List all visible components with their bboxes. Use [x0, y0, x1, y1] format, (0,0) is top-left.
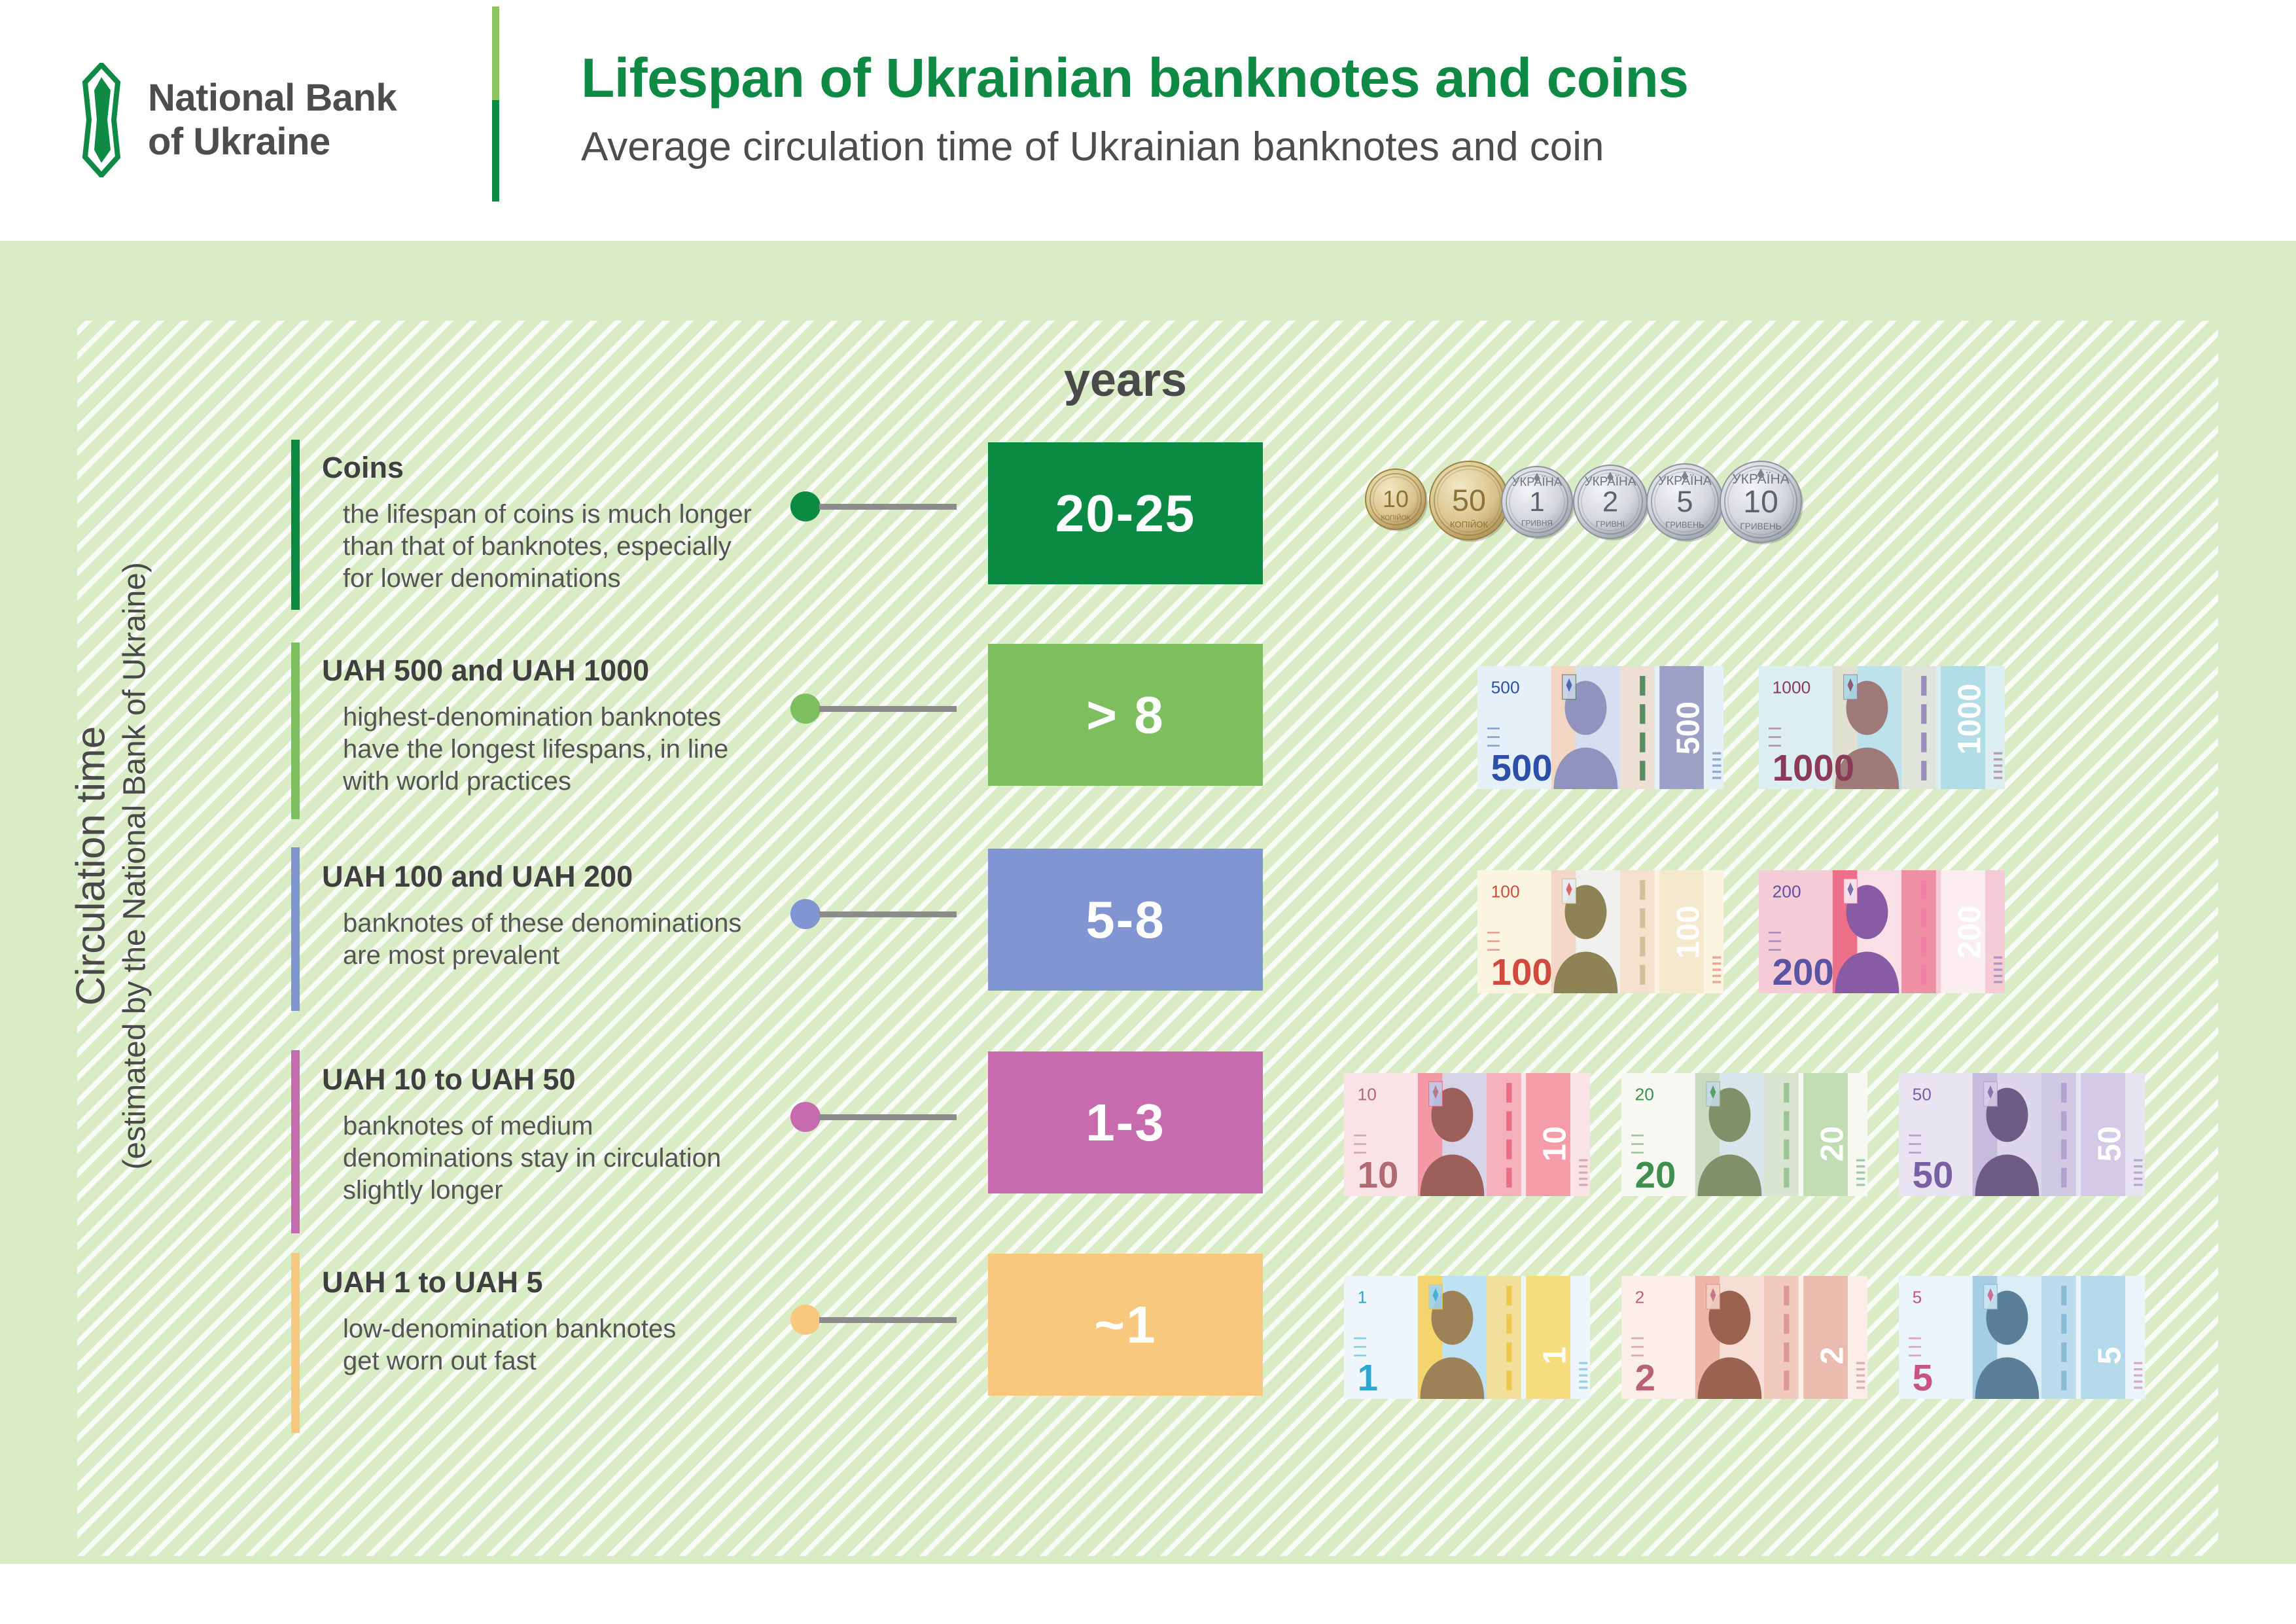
svg-text:20: 20 [1635, 1084, 1654, 1104]
row-description: the lifespan of coins is much longerthan… [343, 499, 780, 594]
svg-text:1000: 1000 [1773, 747, 1854, 788]
header-divider [492, 7, 499, 202]
row-text-block: Coinsthe lifespan of coins is much longe… [322, 451, 780, 595]
row-description-line: have the longest lifespans, in line [343, 733, 780, 766]
svg-text:500: 500 [1491, 747, 1553, 788]
svg-text:5: 5 [1913, 1357, 1933, 1398]
row-accent-bar [291, 1050, 300, 1233]
row-description-line: the lifespan of coins is much longer [343, 499, 780, 531]
row-connector-dot [790, 1305, 821, 1335]
svg-text:100: 100 [1491, 881, 1520, 901]
row-accent-bar [291, 847, 300, 1011]
value-label: ~1 [1094, 1295, 1156, 1355]
svg-text:200: 200 [1773, 951, 1834, 993]
svg-text:100: 100 [1491, 951, 1553, 993]
svg-text:50: 50 [2092, 1126, 2127, 1161]
svg-text:5: 5 [1676, 485, 1693, 518]
row-description-line: are most prevalent [343, 940, 780, 972]
value-box: > 8 [988, 644, 1263, 786]
row-connector-line [819, 911, 957, 917]
row-connector-line [819, 1114, 957, 1120]
svg-text:50: 50 [1452, 484, 1486, 518]
banknote-10: 101010 [1344, 1073, 1590, 1196]
banknote-5: 555 [1899, 1276, 2145, 1399]
svg-text:10: 10 [1743, 484, 1778, 520]
row-accent-bar [291, 643, 300, 819]
svg-text:ГРИВЕНЬ: ГРИВЕНЬ [1665, 520, 1704, 529]
svg-text:1: 1 [1358, 1357, 1378, 1398]
value-label: 1-3 [1086, 1093, 1165, 1153]
row-connector-line [819, 706, 957, 712]
svg-text:ГРИВНЯ: ГРИВНЯ [1521, 519, 1553, 528]
svg-text:20: 20 [1814, 1126, 1850, 1161]
coin-10-hryven: УКРАЇНА10ГРИВЕНЬ [1717, 458, 1805, 546]
svg-text:1: 1 [1529, 486, 1544, 517]
svg-text:5: 5 [2092, 1347, 2127, 1364]
row-accent-bar [291, 1253, 300, 1433]
row-text-block: UAH 10 to UAH 50banknotes of mediumdenom… [322, 1063, 780, 1207]
svg-text:2: 2 [1814, 1347, 1850, 1364]
row-description-line: for lower denominations [343, 563, 780, 595]
value-box: 1-3 [988, 1051, 1263, 1193]
banknote-500: 500500500 [1477, 666, 1723, 789]
coin-5-hryven: УКРАЇНА5ГРИВЕНЬ [1644, 461, 1726, 543]
row-connector-dot [790, 491, 821, 521]
svg-text:500: 500 [1491, 677, 1520, 697]
row-accent-bar [291, 440, 300, 610]
svg-text:КОПІЙОК: КОПІЙОК [1450, 520, 1489, 529]
value-label: 5-8 [1086, 890, 1165, 950]
svg-text:500: 500 [1670, 701, 1706, 755]
page-subtitle: Average circulation time of Ukrainian ba… [581, 124, 1688, 169]
value-box: ~1 [988, 1254, 1263, 1396]
row-description-line: banknotes of medium [343, 1110, 780, 1142]
svg-text:КОПІЙОК: КОПІЙОК [1381, 513, 1411, 521]
value-box: 5-8 [988, 849, 1263, 991]
row-description: low-denomination banknotesget worn out f… [343, 1313, 780, 1377]
row-description-line: slightly longer [343, 1174, 780, 1207]
row-description-line: banknotes of these denominations [343, 908, 780, 940]
row-description: banknotes of mediumdenominations stay in… [343, 1110, 780, 1206]
svg-text:1000: 1000 [1773, 677, 1811, 697]
svg-text:10: 10 [1537, 1126, 1572, 1161]
svg-text:ГРИВЕНЬ: ГРИВЕНЬ [1740, 521, 1781, 531]
value-label: > 8 [1086, 685, 1164, 745]
banknote-50: 505050 [1899, 1073, 2145, 1196]
coin-2-hryvni: УКРАЇНА2ГРИВНІ [1570, 462, 1650, 542]
row-description: highest-denomination banknoteshave the l… [343, 701, 780, 797]
banknote-100: 100100100 [1477, 870, 1723, 993]
svg-text:20: 20 [1635, 1154, 1676, 1195]
header-titles: Lifespan of Ukrainian banknotes and coin… [581, 47, 1688, 170]
svg-text:200: 200 [1952, 906, 1987, 959]
nbu-logo: National Bank of Ukraine [73, 63, 397, 177]
page-header: National Bank of Ukraine Lifespan of Ukr… [0, 0, 2296, 241]
banknote-200: 200200200 [1759, 870, 2005, 993]
logo-line-2: of Ukraine [148, 120, 397, 164]
row-title: UAH 1 to UAH 5 [322, 1266, 780, 1299]
row-description-line: denominations stay in circulation [343, 1142, 780, 1174]
coin-10-kopiyok: 10КОПІЙОК [1362, 466, 1429, 533]
svg-text:1: 1 [1537, 1347, 1572, 1364]
banknote-2: 222 [1621, 1276, 1867, 1399]
svg-text:50: 50 [1913, 1084, 1932, 1104]
nbu-shield-logo-icon [73, 63, 130, 177]
svg-text:2: 2 [1602, 486, 1618, 518]
coin-1-hryvnia: УКРАЇНА1ГРИВНЯ [1498, 463, 1576, 540]
row-description-line: get worn out fast [343, 1345, 780, 1377]
svg-text:100: 100 [1670, 906, 1706, 959]
svg-text:10: 10 [1358, 1084, 1377, 1104]
row-description: banknotes of these denominationsare most… [343, 908, 780, 972]
row-title: UAH 100 and UAH 200 [322, 860, 780, 893]
svg-text:2: 2 [1635, 1357, 1655, 1398]
row-connector-dot [790, 694, 821, 724]
svg-text:2: 2 [1635, 1287, 1645, 1307]
value-label: 20-25 [1055, 484, 1196, 544]
row-connector-dot [790, 1102, 821, 1132]
row-connector-dot [790, 899, 821, 929]
svg-text:1: 1 [1358, 1287, 1368, 1307]
banknote-1000: 100010001000 [1759, 666, 2005, 789]
svg-text:1000: 1000 [1952, 684, 1987, 755]
row-title: Coins [322, 451, 780, 484]
logo-line-1: National Bank [148, 77, 397, 120]
row-title: UAH 10 to UAH 50 [322, 1063, 780, 1096]
svg-text:10: 10 [1358, 1154, 1399, 1195]
banknote-20: 202020 [1621, 1073, 1867, 1196]
svg-text:200: 200 [1773, 881, 1801, 901]
svg-text:50: 50 [1913, 1154, 1954, 1195]
row-description-line: low-denomination banknotes [343, 1313, 780, 1345]
row-description-line: than that of banknotes, especially [343, 531, 780, 563]
svg-text:ГРИВНІ: ГРИВНІ [1596, 520, 1625, 529]
svg-text:5: 5 [1913, 1287, 1922, 1307]
nbu-logo-text: National Bank of Ukraine [148, 77, 397, 163]
years-column-header: years [988, 353, 1263, 407]
svg-text:10: 10 [1383, 486, 1409, 512]
row-title: UAH 500 and UAH 1000 [322, 654, 780, 687]
banknote-1: 111 [1344, 1276, 1590, 1399]
row-connector-line [819, 504, 957, 510]
row-description-line: highest-denomination banknotes [343, 701, 780, 733]
row-text-block: UAH 100 and UAH 200banknotes of these de… [322, 860, 780, 972]
page-title: Lifespan of Ukrainian banknotes and coin… [581, 47, 1688, 109]
row-text-block: UAH 500 and UAH 1000highest-denomination… [322, 654, 780, 798]
row-text-block: UAH 1 to UAH 5low-denomination banknotes… [322, 1266, 780, 1377]
row-description-line: with world practices [343, 766, 780, 798]
row-connector-line [819, 1317, 957, 1323]
value-box: 20-25 [988, 442, 1263, 584]
